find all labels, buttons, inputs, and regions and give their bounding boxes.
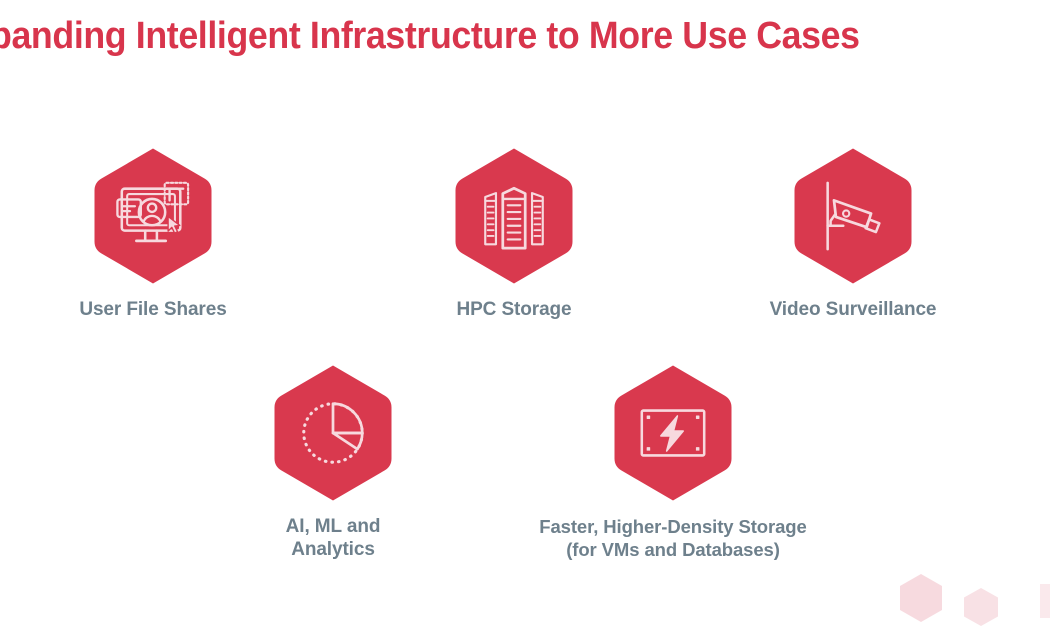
- use-case-label: HPC Storage: [384, 298, 644, 321]
- use-case-faster-higher-density-storage[interactable]: Faster, Higher-Density Storage (for VMs …: [523, 363, 823, 561]
- server-racks-icon: [475, 177, 553, 255]
- desktop-user-file-shares-icon: [114, 177, 192, 255]
- hexagon-badge: [611, 363, 735, 503]
- use-case-user-file-shares[interactable]: User File Shares: [23, 146, 283, 321]
- pie-chart-icon: [294, 394, 372, 472]
- bolt-glyph: [661, 416, 683, 451]
- decor-hexagon-large: [900, 574, 942, 622]
- hexagon-badge: [791, 146, 915, 286]
- decor-hexagon-small: [1040, 584, 1050, 618]
- decorative-hexagons: [870, 530, 1050, 600]
- slide-canvas: panding Intelligent Infrastructure to Mo…: [0, 0, 1050, 600]
- use-case-label: Faster, Higher-Density Storage (for VMs …: [523, 515, 823, 561]
- use-case-ai-ml-analytics[interactable]: AI, ML and Analytics: [203, 363, 463, 561]
- use-case-video-surveillance[interactable]: Video Surveillance: [723, 146, 983, 321]
- hexagon-badge: [91, 146, 215, 286]
- page-title: panding Intelligent Infrastructure to Mo…: [0, 14, 986, 58]
- use-case-label: AI, ML and Analytics: [203, 515, 463, 561]
- use-case-label: User File Shares: [23, 298, 283, 321]
- use-case-label: Video Surveillance: [723, 298, 983, 321]
- hexagon-badge: [271, 363, 395, 503]
- use-case-hpc-storage[interactable]: HPC Storage: [384, 146, 644, 321]
- lightning-bolt-plate-icon: [634, 394, 712, 472]
- security-camera-icon: [814, 177, 892, 255]
- hexagon-badge: [452, 146, 576, 286]
- decor-hexagon-medium: [964, 588, 998, 626]
